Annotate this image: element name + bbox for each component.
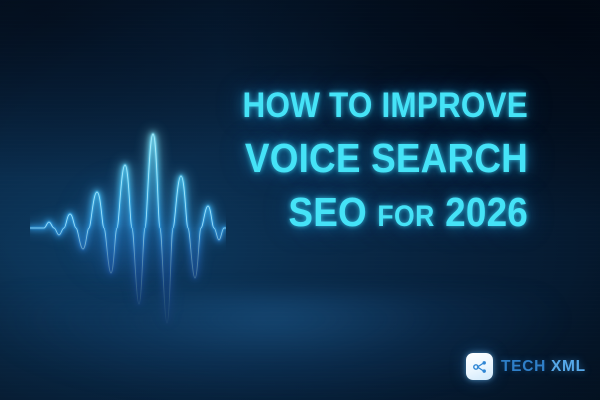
- poster-headline: How to Improve Voice Search SEO for 2026: [198, 88, 528, 233]
- headline-for: for: [377, 200, 434, 233]
- headline-line-1: How to Improve: [231, 88, 528, 123]
- brand-name-secondary: XML: [551, 358, 586, 375]
- headline-year: 2026: [445, 189, 528, 235]
- network-share-icon: [466, 353, 493, 380]
- brand-name-primary: TECH: [501, 358, 546, 375]
- headline-line-2: Voice Search: [231, 138, 528, 179]
- brand-name: TECHXML: [501, 359, 586, 375]
- poster-canvas: How to Improve Voice Search SEO for 2026…: [0, 0, 600, 400]
- brand-logo[interactable]: TECHXML: [466, 353, 586, 380]
- voice-waveform-graphic: [30, 118, 226, 340]
- headline-seo: SEO: [288, 189, 366, 235]
- headline-line-3: SEO for 2026: [231, 192, 528, 233]
